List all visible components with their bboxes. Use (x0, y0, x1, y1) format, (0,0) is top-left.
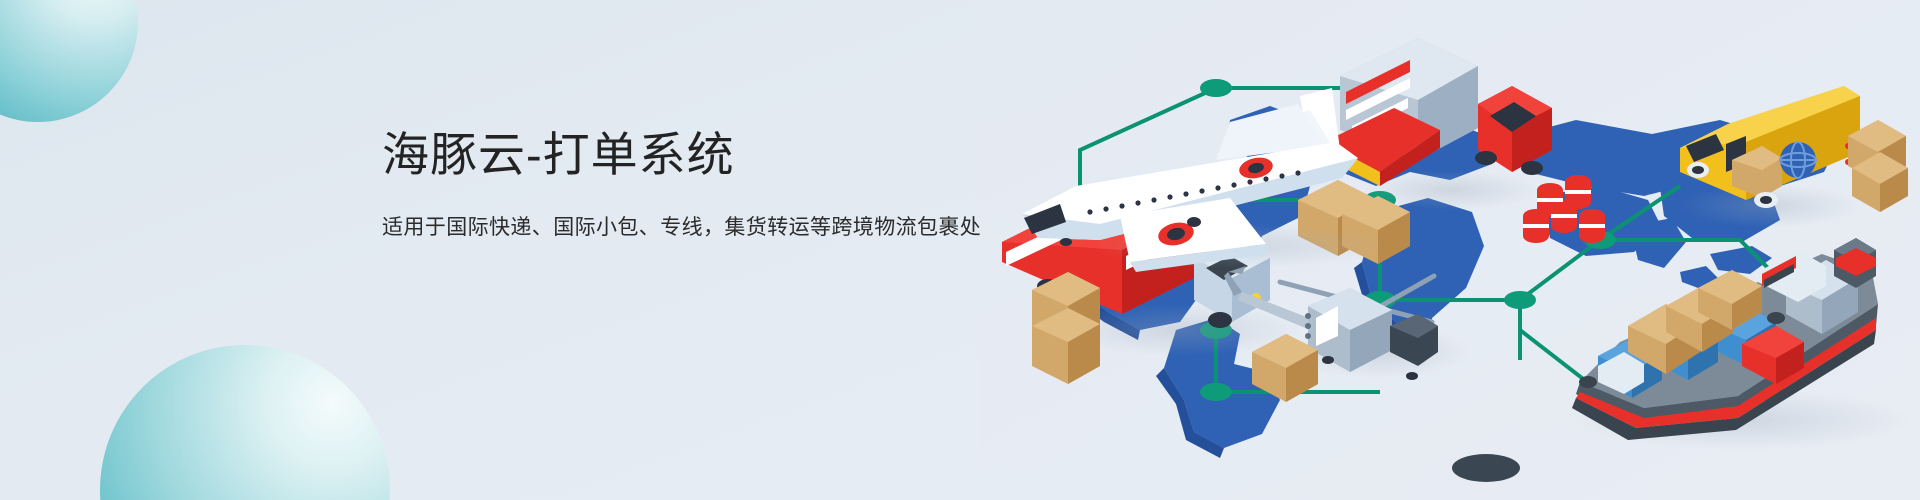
plane-landing-gear (1187, 217, 1201, 227)
van-hubcap (1760, 196, 1772, 204)
truck-wheel (1208, 312, 1232, 328)
box-truck-wheel (1521, 161, 1543, 175)
plane-landing-gear (1060, 238, 1072, 246)
helicopter-portholes (1305, 313, 1311, 339)
hero-banner: 海豚云-打单系统 适用于国际快递、国际小包、专线，集货转运等跨境物流包裹处理 (0, 0, 1920, 500)
cargo-boxes (1032, 272, 1100, 384)
helicopter-wheel (1322, 356, 1334, 364)
decorative-circle-bottom-left (100, 345, 390, 500)
logistics-illustration (980, 0, 1920, 500)
decorative-circle-top-left (0, 0, 138, 122)
network-node (1200, 383, 1232, 401)
boat-silhouette (1452, 454, 1520, 482)
ship-bollard (1767, 312, 1785, 324)
cargo-boxes (1848, 120, 1908, 212)
network-node (1504, 291, 1536, 309)
box-truck-wheel (1475, 151, 1497, 165)
ship-bollard (1579, 376, 1597, 388)
network-node (1200, 79, 1232, 97)
van-hubcap (1692, 166, 1704, 174)
helicopter-wheel (1406, 372, 1418, 380)
